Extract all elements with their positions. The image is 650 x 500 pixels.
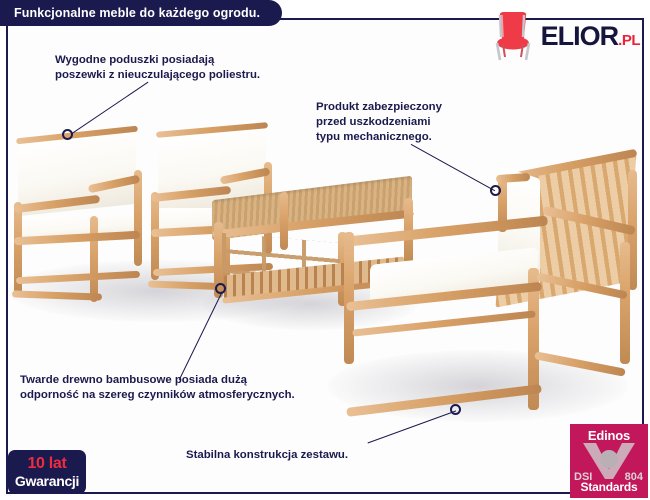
warranty-years: 10 lat [27,456,66,472]
callout-dot-bamboo [215,283,226,294]
chair1-leg-back-right [134,170,142,266]
product-photo [8,20,642,492]
sofa-leg-front-left [344,232,354,364]
warranty-label: Gwarancji [15,474,79,488]
sofa-leg-back-right [620,242,630,364]
brand-name: ELIOR [541,21,619,51]
annotation-stability: Stabilna konstrukcja zestawu. [186,448,348,463]
brand-tld: .PL [618,32,640,49]
callout-dot-stability [450,404,461,415]
edinos-certification-badge: Edinos DSI 804 Standards [570,424,648,498]
chair1-leg-front-right [90,216,98,302]
brand-logo: ELIOR.PL [491,10,640,62]
headline-text: Funkcjonalne meble do każdego ogrodu. [14,6,260,20]
callout-dot-cushions [62,129,73,140]
edinos-title: Edinos [570,428,648,443]
annotation-bamboo-wood: Twarde drewno bambusowe posiada dużą odp… [20,373,295,403]
brand-wordmark: ELIOR.PL [541,23,640,50]
edinos-subtitle: Standards [570,480,648,494]
annotation-cushions: Wygodne poduszki posiadają poszewki z ni… [55,53,260,83]
callout-dot-protection [490,185,501,196]
annotation-protection: Produkt zabezpieczony przed uszkodzeniam… [316,100,442,145]
infographic-page: Wygodne poduszki posiadają poszewki z ni… [0,0,650,500]
red-chair-icon [491,10,535,62]
warranty-badge: 10 lat Gwarancji [8,450,86,494]
headline-banner: Funkcjonalne meble do każdego ogrodu. [0,0,282,26]
circle-icon [600,450,618,468]
